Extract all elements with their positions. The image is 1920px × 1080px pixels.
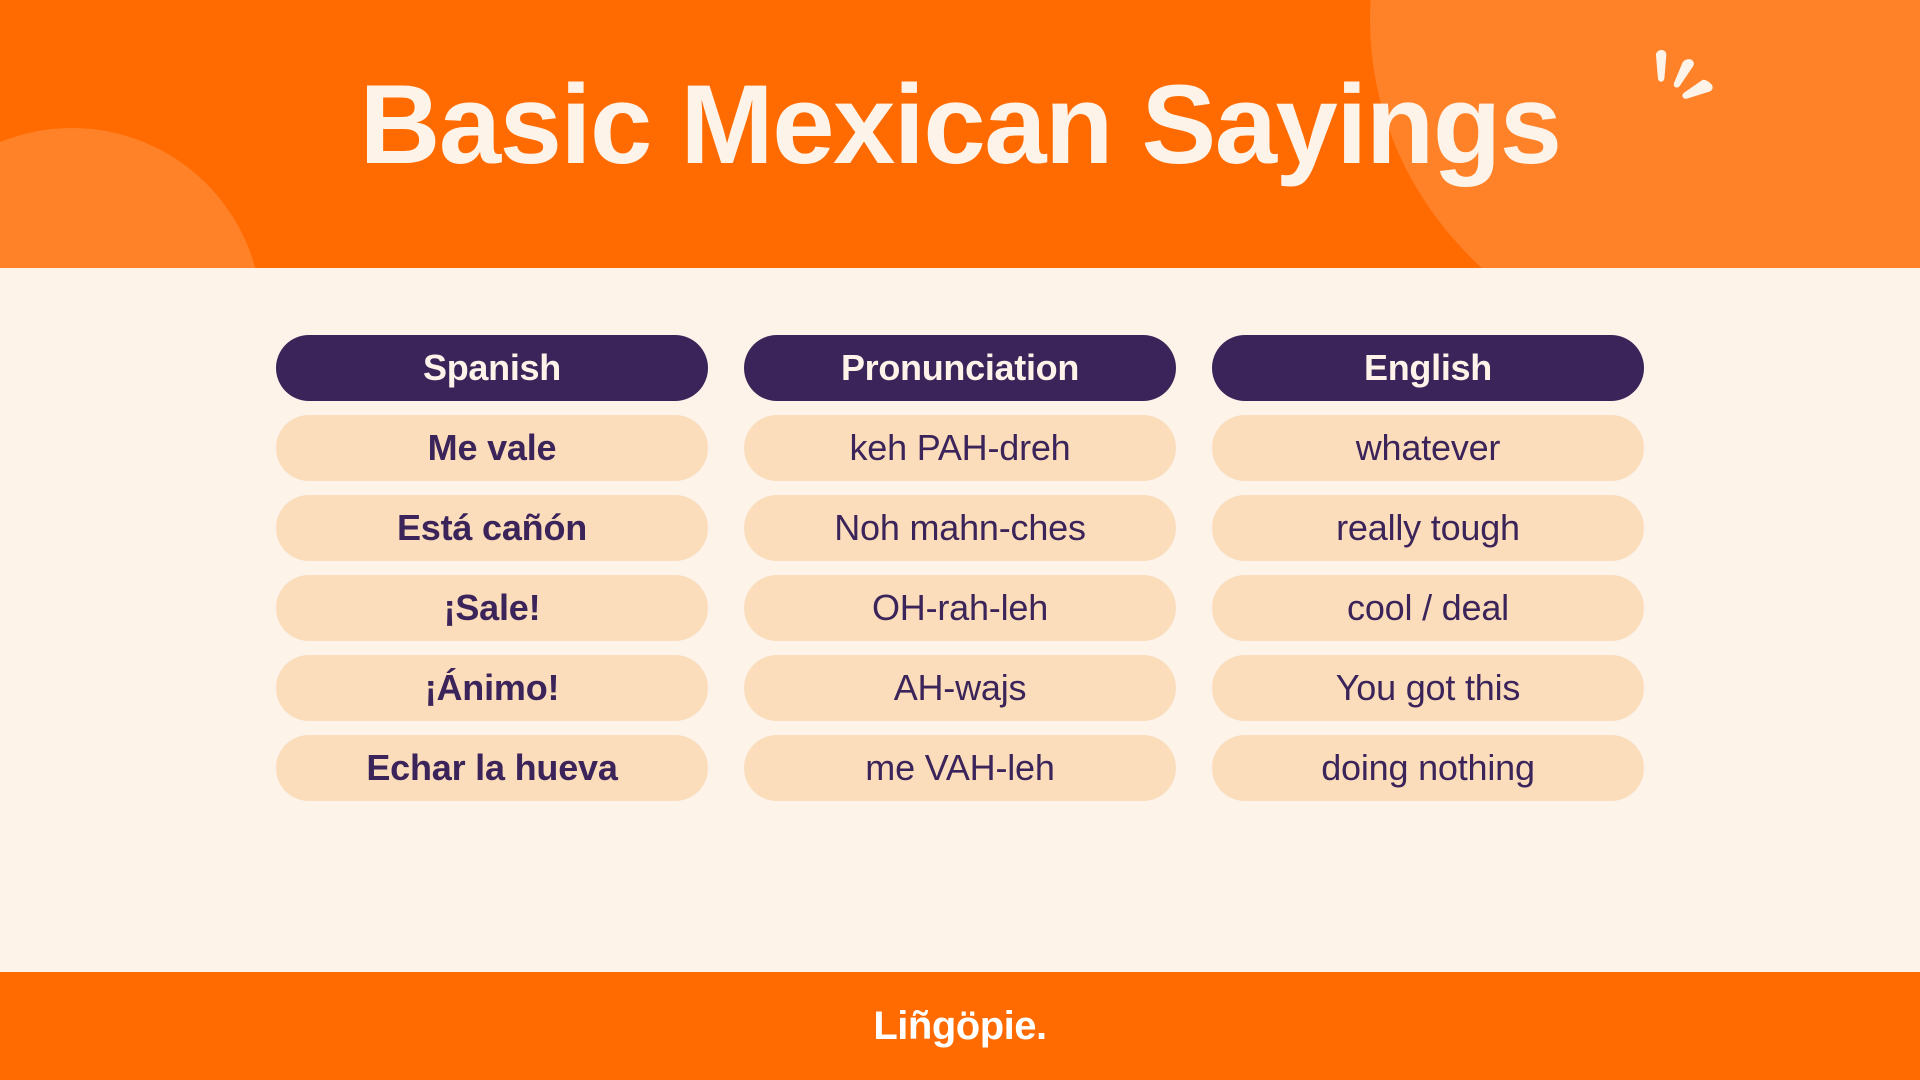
page-title: Basic Mexican Sayings (0, 0, 1920, 268)
sayings-table-area: Spanish Me vale Está cañón ¡Sale! ¡Ánimo… (0, 268, 1920, 972)
footer-banner: Liñgöpie. (0, 972, 1920, 1080)
poster-canvas: Basic Mexican Sayings Spanish Me vale Es… (0, 0, 1920, 1080)
column-english: English whatever really tough cool / dea… (1212, 335, 1644, 801)
table-cell-spanish: Está cañón (276, 495, 708, 561)
table-cell-pronunciation: OH-rah-leh (744, 575, 1176, 641)
table-cell-spanish: Echar la hueva (276, 735, 708, 801)
table-cell-english: really tough (1212, 495, 1644, 561)
brand-logo: Liñgöpie. (873, 1004, 1046, 1049)
table-cell-pronunciation: AH-wajs (744, 655, 1176, 721)
column-header-english: English (1212, 335, 1644, 401)
table-cell-english: doing nothing (1212, 735, 1644, 801)
column-pronunciation: Pronunciation keh PAH-dreh Noh mahn-ches… (744, 335, 1176, 801)
table-cell-english: whatever (1212, 415, 1644, 481)
header-banner: Basic Mexican Sayings (0, 0, 1920, 268)
table-cell-spanish: Me vale (276, 415, 708, 481)
sparkle-icon (1644, 44, 1734, 134)
column-header-pronunciation: Pronunciation (744, 335, 1176, 401)
column-header-spanish: Spanish (276, 335, 708, 401)
table-cell-pronunciation: keh PAH-dreh (744, 415, 1176, 481)
table-cell-pronunciation: Noh mahn-ches (744, 495, 1176, 561)
table-cell-english: cool / deal (1212, 575, 1644, 641)
table-cell-spanish: ¡Ánimo! (276, 655, 708, 721)
table-cell-english: You got this (1212, 655, 1644, 721)
table-cell-pronunciation: me VAH-leh (744, 735, 1176, 801)
column-spanish: Spanish Me vale Está cañón ¡Sale! ¡Ánimo… (276, 335, 708, 801)
sayings-table: Spanish Me vale Está cañón ¡Sale! ¡Ánimo… (276, 335, 1644, 801)
table-cell-spanish: ¡Sale! (276, 575, 708, 641)
